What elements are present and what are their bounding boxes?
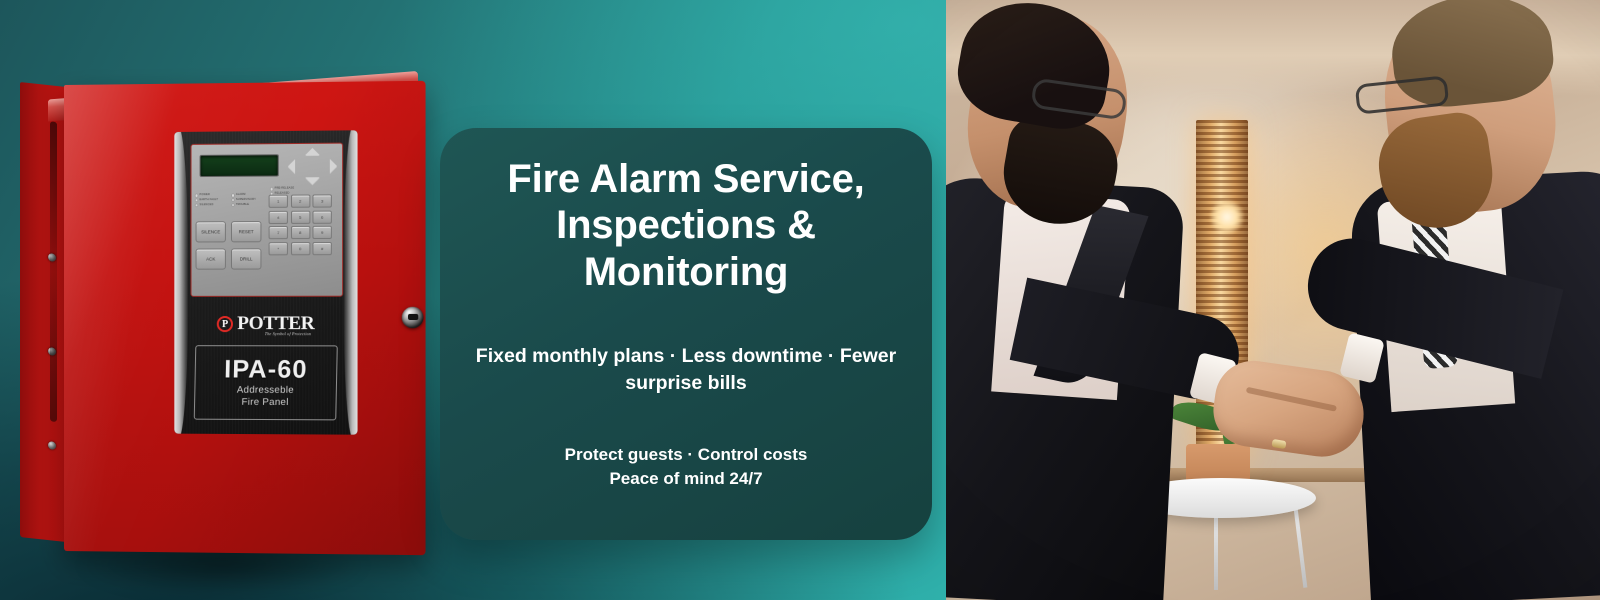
led-indicator-icon (196, 199, 198, 201)
handshake-photo (946, 0, 1600, 600)
led-indicator-icon (271, 188, 273, 190)
function-key-drill: DRILL (231, 248, 261, 269)
lamp-bulb-icon (1210, 200, 1244, 234)
benefits-text: Protect guests · Control costs Peace of … (565, 443, 808, 491)
panel-model-number: IPA-60 (224, 357, 308, 382)
panel-key-lock-icon (402, 307, 424, 328)
led-indicator-icon (196, 204, 198, 206)
keypad-key: 3 (312, 194, 331, 207)
panel-dpad-icon (289, 149, 336, 184)
led-group-status: POWER EARTH FAULT SILENCED (196, 193, 219, 208)
arrow-up-icon (305, 148, 319, 155)
panel-front-door: POWER EARTH FAULT SILENCED ALARM SUPERVI… (64, 81, 426, 555)
promo-banner: POWER EARTH FAULT SILENCED ALARM SUPERVI… (0, 0, 1600, 600)
keypad-key: 9 (312, 226, 331, 239)
keypad-key: * (269, 242, 288, 255)
keypad-key: 4 (269, 210, 288, 223)
potter-tagline: The Symbol of Protection (174, 331, 357, 336)
faceplate-right-arc (343, 130, 357, 434)
benefits-line-1: Protect guests · Control costs (565, 443, 808, 467)
led-label: TROUBLE (236, 203, 249, 208)
keypad-key: 2 (290, 195, 309, 208)
panel-model-plate: IPA-60 Addresseble Fire Panel (194, 345, 338, 420)
panel-keypad-area: POWER EARTH FAULT SILENCED ALARM SUPERVI… (190, 143, 343, 297)
function-key-ack: ACK (196, 248, 226, 269)
benefits-line-2: Peace of mind 24/7 (565, 467, 808, 491)
model-desc-line2: Fire Panel (236, 396, 293, 408)
hinge-screw-icon (48, 441, 56, 450)
arrow-right-icon (330, 159, 337, 173)
function-key-reset: RESET (231, 221, 261, 242)
panel-faceplate: POWER EARTH FAULT SILENCED ALARM SUPERVI… (174, 130, 357, 434)
keypad-key: # (312, 241, 331, 254)
led-label: SILENCED (199, 203, 213, 208)
function-key-row: SILENCE RESET (196, 221, 265, 242)
function-key-silence: SILENCE (196, 221, 226, 242)
keypad-key: 5 (290, 210, 309, 223)
keypad-row: 7 8 9 (269, 226, 336, 239)
promo-text-card: Fire Alarm Service, Inspections & Monito… (440, 128, 932, 540)
page-title: Fire Alarm Service, Inspections & Monito… (476, 156, 896, 295)
potter-p-circle-icon: P (217, 316, 233, 332)
keypad-row: 4 5 6 (269, 210, 336, 223)
teal-gradient-stage: POWER EARTH FAULT SILENCED ALARM SUPERVI… (0, 0, 946, 600)
panel-model-description: Addresseble Fire Panel (236, 384, 294, 408)
hinge-screw-icon (48, 347, 56, 356)
led-indicator-icon (232, 199, 234, 201)
hinge-screw-icon (48, 253, 56, 262)
panel-function-keys: SILENCE RESET ACK DRILL (196, 221, 265, 276)
keypad-key: 8 (290, 226, 309, 239)
arrow-left-icon (288, 159, 295, 173)
led-indicator-icon (232, 204, 234, 206)
fire-alarm-panel-image: POWER EARTH FAULT SILENCED ALARM SUPERVI… (8, 55, 438, 575)
function-key-row: ACK DRILL (196, 248, 265, 269)
keypad-row: 1 2 3 (269, 194, 336, 208)
led-indicator-icon (196, 194, 198, 196)
model-desc-line1: Addresseble (237, 384, 294, 396)
value-proposition-text: Fixed monthly plans · Less downtime · Fe… (470, 343, 902, 397)
panel-lcd-display (200, 154, 279, 177)
keypad-key: 0 (290, 242, 309, 255)
faceplate-left-arc (174, 130, 188, 434)
led-group-alarm: ALARM SUPERVISORY TROUBLE (232, 193, 256, 208)
keypad-key: 6 (312, 210, 331, 223)
keypad-row: * 0 # (269, 241, 336, 254)
led-indicator-icon (232, 194, 234, 196)
arrow-down-icon (305, 177, 319, 184)
panel-numeric-keypad: 1 2 3 4 5 6 7 8 (269, 194, 336, 257)
keypad-key: 7 (269, 226, 288, 239)
keypad-key: 1 (269, 195, 288, 208)
